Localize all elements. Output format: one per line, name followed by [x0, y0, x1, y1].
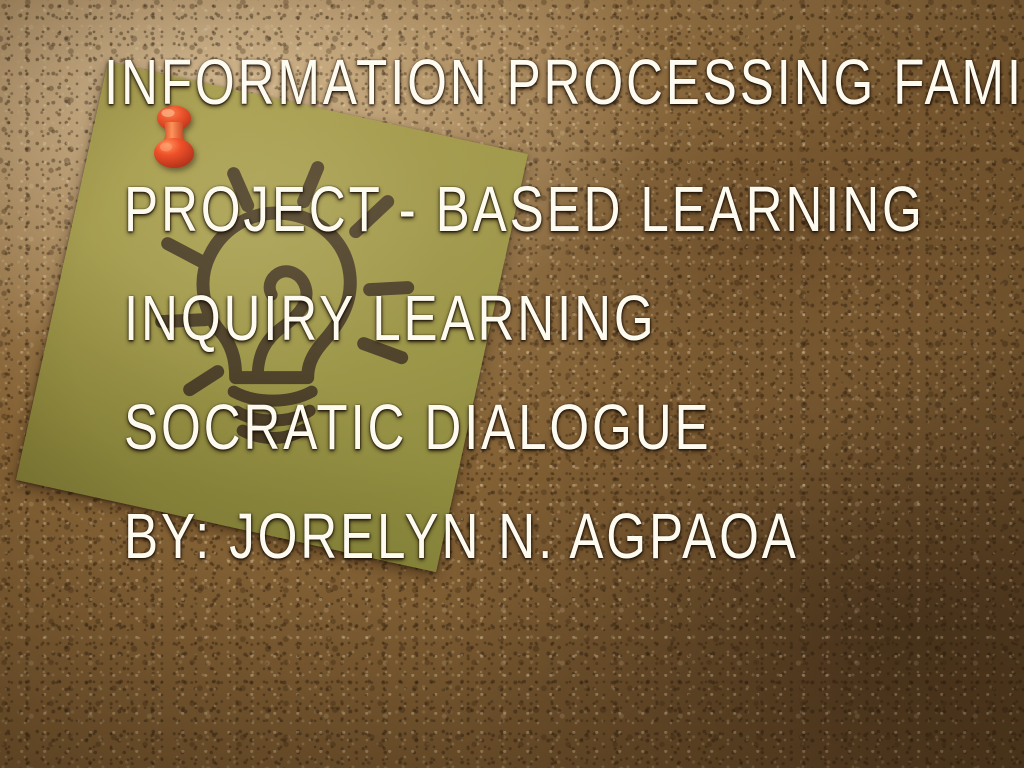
slide-text-layer: INFORMATION PROCESSING FAMILY PROJECT - …: [0, 0, 1024, 768]
author-credit: BY: JORELYN N. AGPAOA: [124, 499, 799, 573]
bullet-project-based-learning: PROJECT - BASED LEARNING: [124, 172, 925, 246]
bullet-inquiry-learning: INQUIRY LEARNING: [124, 281, 657, 355]
page-title: INFORMATION PROCESSING FAMILY: [104, 45, 1024, 119]
bullet-socratic-dialogue: SOCRATIC DIALOGUE: [124, 390, 711, 464]
slide-canvas: INFORMATION PROCESSING FAMILY PROJECT - …: [0, 0, 1024, 768]
